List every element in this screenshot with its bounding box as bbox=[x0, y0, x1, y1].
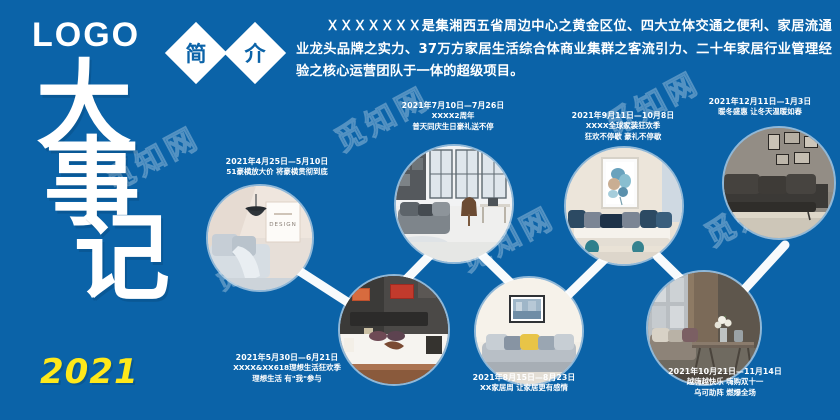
caption-date: 2021年5月30日—6月21日 bbox=[212, 352, 362, 363]
caption-date: 2021年10月21日—11月14日 bbox=[648, 366, 802, 377]
caption-date: 2021年8月15日—8月23日 bbox=[452, 372, 596, 383]
caption-line2: XXXX全球家装狂欢季 bbox=[550, 121, 696, 132]
timeline-caption-6: 2021年10月21日—11月14日 越嗨越快乐 嗨购双十一 乌可助阵 燃爆全场 bbox=[648, 366, 802, 399]
photo-loft-living-room bbox=[396, 146, 512, 262]
timeline-caption-5: 2021年9月11日—10月8日 XXXX全球家装狂欢季 狂欢不停歇 豪礼不停歇 bbox=[550, 110, 696, 143]
timeline-caption-3: 2021年7月10日—7月26日 XXXX2周年 普天同庆生日豪礼送不停 bbox=[376, 100, 530, 133]
timeline-caption-1: 2021年4月25日—5月10日 51豪横放大价 将豪横贯彻到底 bbox=[218, 156, 336, 178]
photo-living-room-sofa: DESIGN bbox=[208, 186, 312, 290]
photo-grey-sofa-framed-picture bbox=[476, 278, 582, 384]
caption-line3: 理想生活 有"我"参与 bbox=[212, 374, 362, 385]
timeline-photo-4[interactable] bbox=[476, 278, 582, 384]
caption-line2: XXXX2周年 bbox=[376, 111, 530, 122]
timeline-photo-7[interactable] bbox=[724, 128, 834, 238]
caption-date: 2021年7月10日—7月26日 bbox=[376, 100, 530, 111]
timeline-caption-2: 2021年5月30日—6月21日 XXXX&XX618理想生活狂欢季 理想生活 … bbox=[212, 352, 362, 385]
caption-line2: 暖冬盛惠 让冬天温暖如春 bbox=[686, 107, 834, 118]
timeline: DESIGN bbox=[0, 0, 840, 420]
photo-white-sofa-blue-artwork bbox=[566, 148, 682, 264]
caption-line3: 乌可助阵 燃爆全场 bbox=[648, 388, 802, 399]
svg-text:DESIGN: DESIGN bbox=[269, 222, 297, 228]
caption-date: 2021年9月11日—10月8日 bbox=[550, 110, 696, 121]
timeline-photo-5[interactable] bbox=[566, 148, 682, 264]
caption-line2: 越嗨越快乐 嗨购双十一 bbox=[648, 377, 802, 388]
caption-date: 2021年12月11日—1月3日 bbox=[686, 96, 834, 107]
timeline-caption-7: 2021年12月11日—1月3日 暖冬盛惠 让冬天温暖如春 bbox=[686, 96, 834, 118]
timeline-caption-4: 2021年8月15日—8月23日 XX家居周 让家居更有感情 bbox=[452, 372, 596, 394]
connector-6-7 bbox=[742, 245, 785, 292]
poster-canvas: 觅知网 觅知网 觅知网 觅知网 觅知网 觅知 LOGO 大 事 记 2021 简… bbox=[0, 0, 840, 420]
caption-line3: 狂欢不停歇 豪礼不停歇 bbox=[550, 132, 696, 143]
timeline-photo-1[interactable]: DESIGN bbox=[208, 186, 312, 290]
caption-line2: XXXX&XX618理想生活狂欢季 bbox=[212, 363, 362, 374]
caption-line2: XX家居周 让家居更有感情 bbox=[452, 383, 596, 394]
photo-sectional-sofa-photo-wall bbox=[724, 128, 834, 238]
caption-line3: 普天同庆生日豪礼送不停 bbox=[376, 122, 530, 133]
caption-line2: 51豪横放大价 将豪横贯彻到底 bbox=[218, 167, 336, 178]
caption-date: 2021年4月25日—5月10日 bbox=[218, 156, 336, 167]
timeline-photo-3[interactable] bbox=[396, 146, 512, 262]
